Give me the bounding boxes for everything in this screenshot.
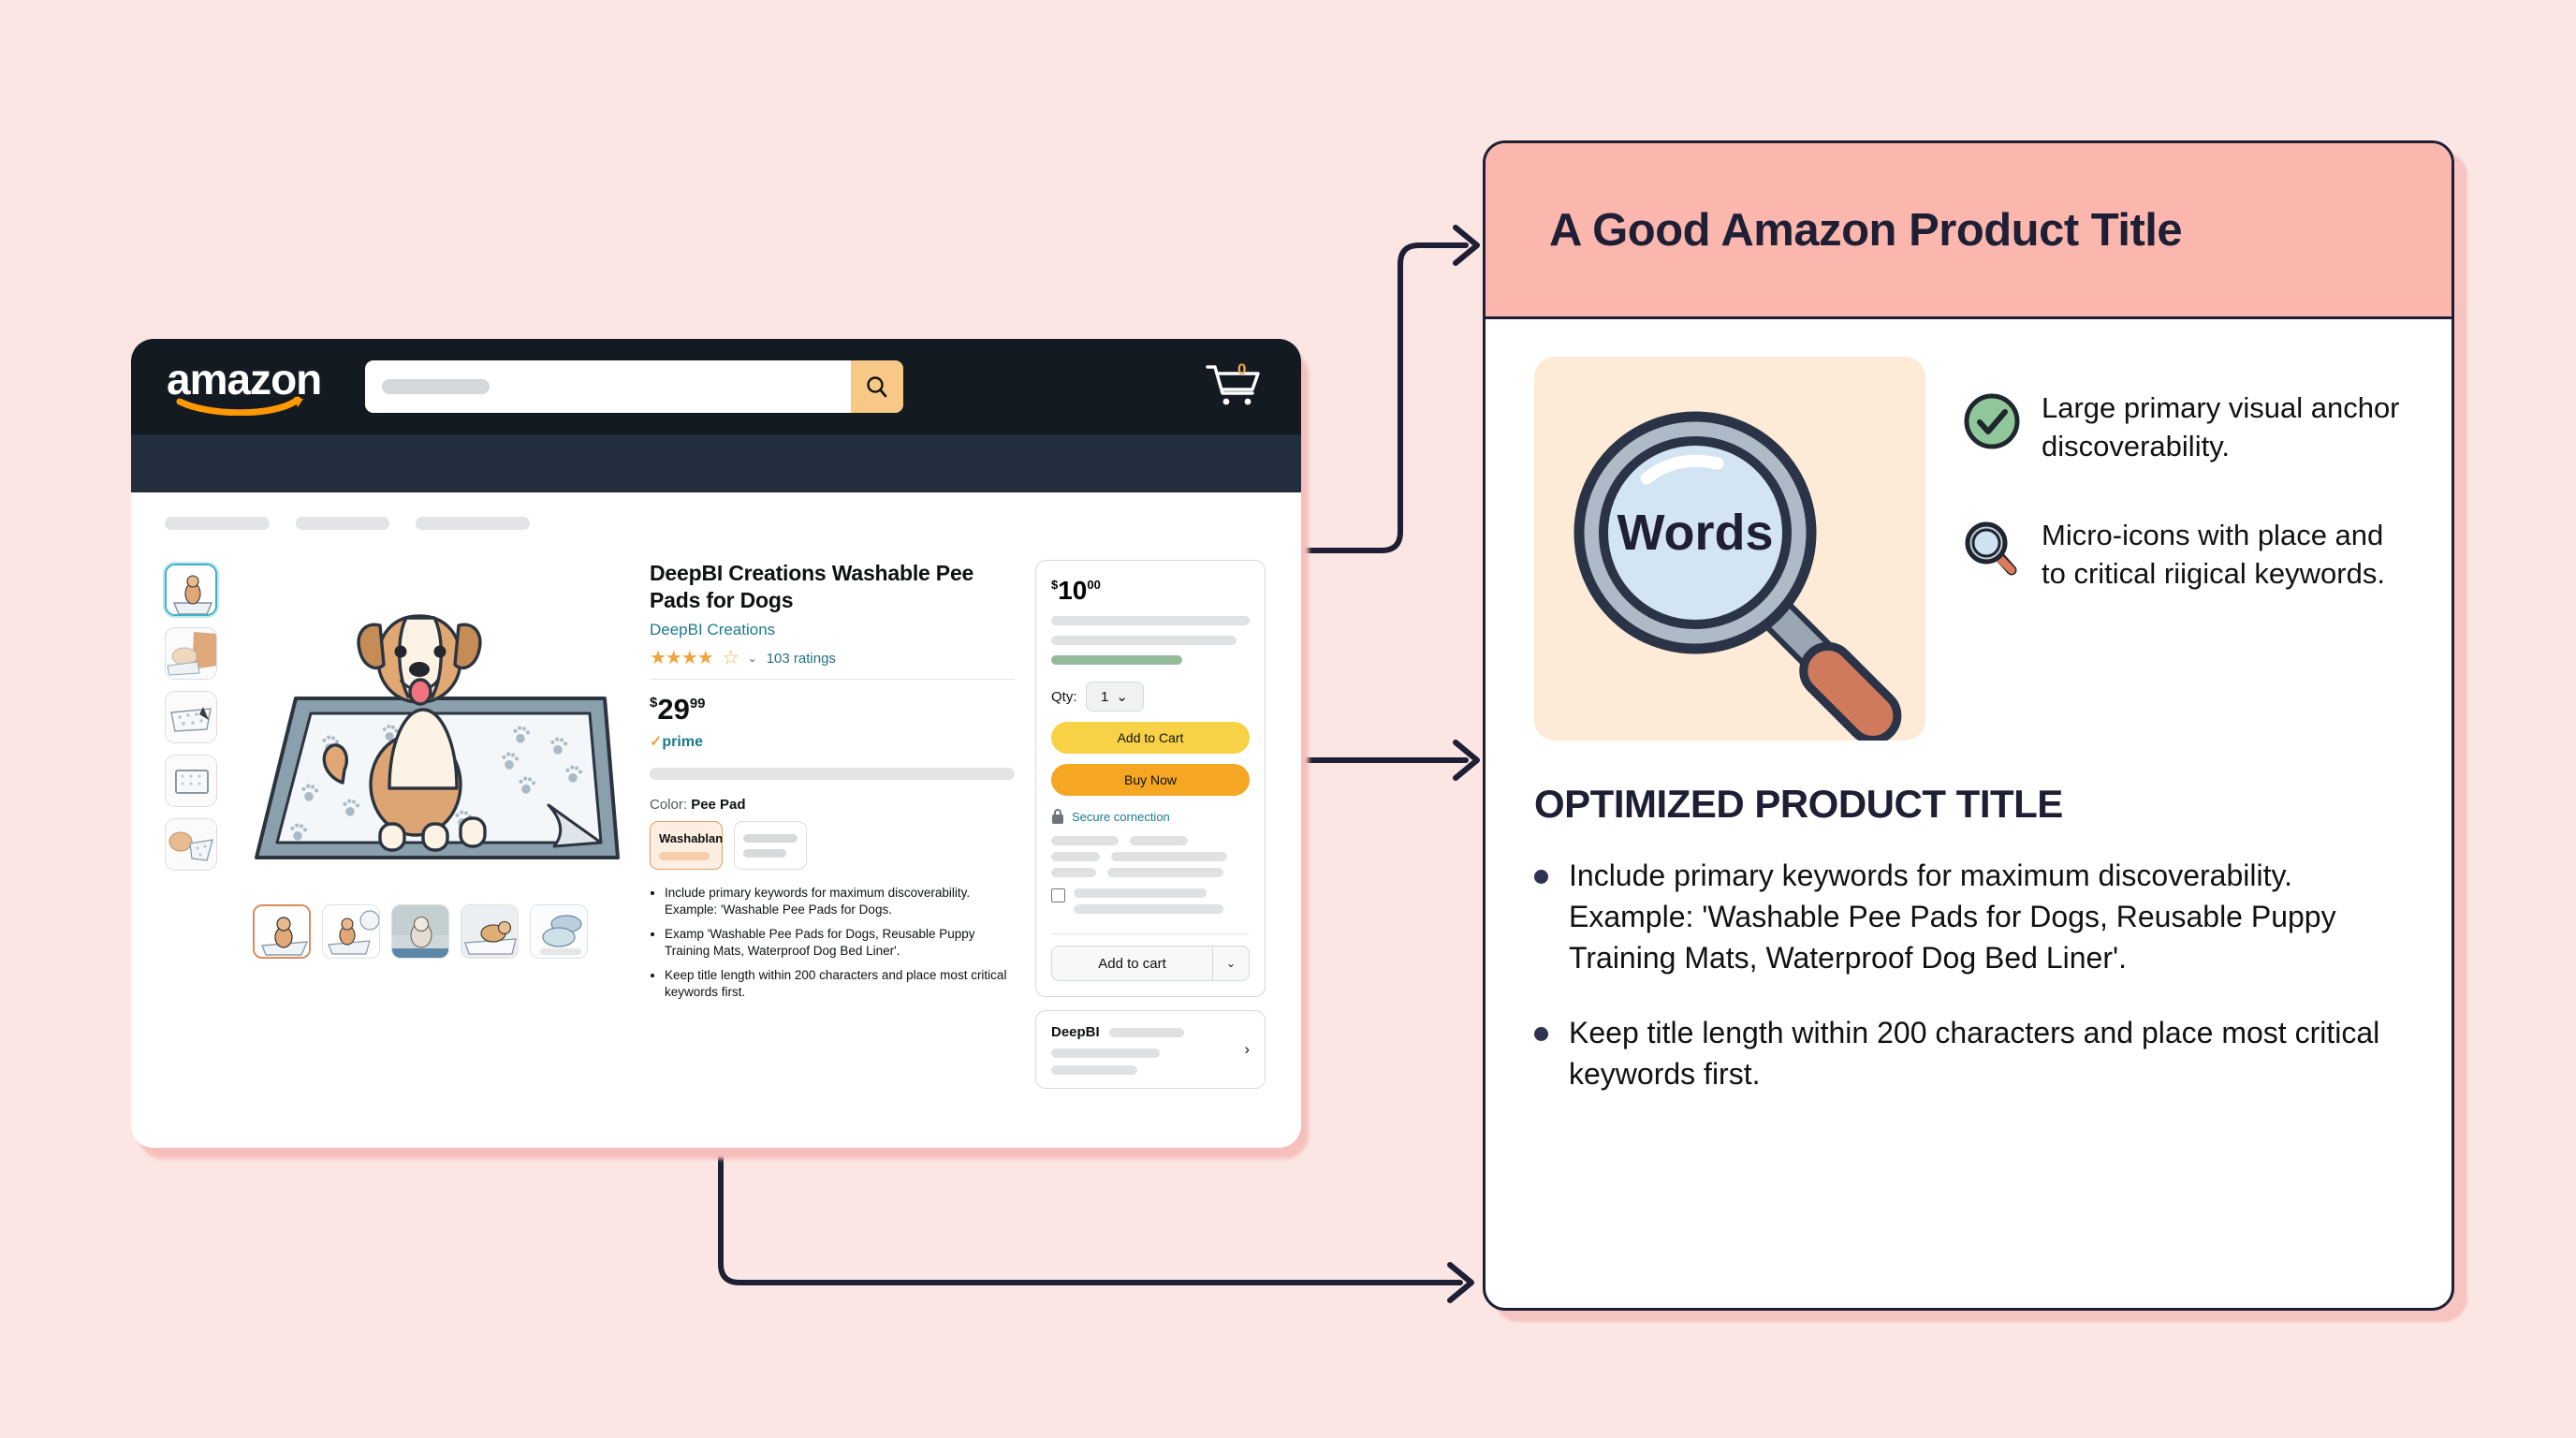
explainer-card: A Good Amazon Product Title rds	[1483, 140, 2454, 1311]
breadcrumb-item[interactable]	[416, 517, 530, 530]
swatch-bar	[743, 849, 786, 858]
breadcrumb-item[interactable]	[165, 517, 270, 530]
secure-connection-row: Secure cornection	[1051, 809, 1250, 825]
meta-row	[1051, 836, 1250, 845]
prime-label: prime	[662, 734, 703, 750]
checkbox-label-lines	[1074, 888, 1250, 920]
thumbnail-dog-on-pad[interactable]	[165, 564, 217, 616]
dog-with-fabric-swatch-icon	[323, 905, 380, 959]
pad-flat-thumb-icon	[166, 756, 217, 807]
color-swatches: Washablan	[650, 821, 1015, 870]
breadcrumb	[165, 517, 1267, 530]
feature-row: rds Words	[1534, 357, 2403, 741]
lock-icon	[1051, 809, 1064, 825]
buy-box: $1000 Qty: 1 ⌄ Add to Cart	[1035, 560, 1266, 997]
divider	[650, 679, 1015, 680]
list-item: Include primary keywords for maximum dis…	[1534, 855, 2403, 978]
lens-word-text: Words	[1617, 505, 1773, 561]
feature-point: Large primary visual anchor discoverabil…	[1963, 389, 2403, 465]
swatch-secondary[interactable]	[734, 821, 807, 870]
buy-now-button[interactable]: Buy Now	[1051, 764, 1250, 796]
amazon-product-page-mock: amazon	[131, 339, 1301, 1148]
list-item-text: Keep title length within 200 characters …	[1569, 1012, 2403, 1094]
feature-point-text: Large primary visual anchor discoverabil…	[2042, 389, 2403, 465]
list-item: Keep title length within 200 characters …	[665, 967, 1015, 1000]
star-rating-icon: ★★★★	[650, 649, 713, 668]
dog-sitting-on-pad-icon	[255, 906, 311, 959]
cart-count-badge: 0	[1237, 361, 1246, 377]
thumbnail-pad-flat[interactable]	[165, 755, 217, 807]
amazon-smile-icon	[176, 395, 307, 416]
meta-value	[1111, 852, 1227, 861]
gallery-card-room[interactable]	[461, 904, 519, 959]
folded-pads-icon	[531, 905, 588, 959]
placeholder-bar	[1074, 888, 1207, 898]
infographic-canvas: amazon	[0, 0, 2576, 1438]
swatch-label: Washablan	[659, 831, 713, 845]
prime-check-icon: ✓	[650, 734, 662, 750]
product-brand-link[interactable]: DeepBI Creations	[650, 621, 1015, 639]
seller-name-row: DeepBI	[1051, 1024, 1235, 1040]
quantity-label: Qty:	[1051, 689, 1077, 705]
breadcrumb-item[interactable]	[296, 517, 389, 530]
meta-value	[1130, 836, 1188, 845]
placeholder-bar	[1051, 1049, 1160, 1058]
checkbox[interactable]	[1051, 888, 1065, 902]
chevron-down-icon[interactable]: ⌄	[1213, 957, 1249, 970]
rating-row[interactable]: ★★★★ ☆ ⌄ 103 ratings	[650, 649, 1015, 668]
list-item: Keep title length within 200 characters …	[1534, 1012, 2403, 1094]
search-input[interactable]	[365, 360, 851, 413]
feature-points: Large primary visual anchor discoverabil…	[1963, 357, 2403, 741]
prime-badge: ✓prime	[650, 732, 1015, 751]
magnifying-glass-over-words-icon: rds Words	[1534, 357, 1925, 741]
color-label-text: Color:	[650, 797, 687, 813]
swatch-washablan[interactable]: Washablan	[650, 821, 723, 870]
list-item: Examp 'Washable Pee Pads for Dogs, Reusa…	[665, 926, 1015, 959]
feature-point-text: Micro-icons with place and to critical r…	[2042, 516, 2403, 593]
gift-option-row[interactable]	[1051, 888, 1250, 920]
list-item-text: Include primary keywords for maximum dis…	[1569, 855, 2403, 978]
bullet-dot-icon	[1534, 1027, 1548, 1041]
placeholder-bar	[1109, 1028, 1184, 1037]
buybox-meta-grid	[1051, 836, 1250, 877]
color-label: Color: Pee Pad	[650, 797, 1015, 813]
search-icon	[865, 374, 889, 399]
buybox-price: $1000	[1051, 576, 1250, 606]
product-detail-layout: DeepBI Creations Washable Pee Pads for D…	[165, 560, 1267, 1089]
price-whole: 29	[657, 693, 689, 726]
placeholder-bar	[650, 768, 1015, 780]
chevron-down-icon: ⌄	[1116, 688, 1128, 705]
magnifier-illustration: rds Words	[1534, 357, 1925, 741]
search-placeholder-bar	[382, 379, 490, 394]
dog-closeup-thumb-icon	[166, 628, 217, 680]
feature-point: Micro-icons with place and to critical r…	[1963, 516, 2403, 593]
seller-info: DeepBI	[1051, 1024, 1235, 1075]
divider	[1051, 933, 1250, 934]
quantity-stepper[interactable]: 1 ⌄	[1086, 682, 1144, 712]
pad-peel-thumb-icon	[166, 692, 217, 743]
thumbnail-rail	[165, 560, 228, 1089]
quantity-value: 1	[1101, 689, 1108, 705]
amazon-sub-nav	[131, 434, 1301, 492]
thumbnail-dog-closeup[interactable]	[165, 627, 217, 680]
search-button[interactable]	[851, 360, 903, 413]
page-title: A Good Amazon Product Title	[1549, 204, 2182, 257]
section-title: OPTIMIZED PRODUCT TITLE	[1534, 782, 2403, 827]
chevron-right-icon[interactable]: ›	[1244, 1040, 1250, 1059]
add-to-cart-button[interactable]: Add to Cart	[1051, 722, 1250, 754]
gallery-card-fabric-swatch[interactable]	[322, 904, 380, 959]
meta-row	[1051, 852, 1250, 861]
seller-card[interactable]: DeepBI ›	[1035, 1010, 1266, 1089]
dog-on-pad-thumb-icon	[167, 565, 217, 616]
quantity-row: Qty: 1 ⌄	[1051, 682, 1250, 712]
product-gallery	[228, 560, 633, 1089]
chevron-down-icon[interactable]: ⌄	[748, 652, 757, 665]
product-bullet-list: Include primary keywords for maximum dis…	[650, 885, 1015, 1000]
cart-icon	[1202, 358, 1266, 412]
thumbnail-pad-peel[interactable]	[165, 691, 217, 743]
add-to-cart-split-label: Add to cart	[1052, 956, 1212, 972]
placeholder-bar	[1074, 904, 1223, 914]
swatch-bar	[659, 852, 710, 860]
product-title: DeepBI Creations Washable Pee Pads for D…	[650, 560, 1015, 614]
buybox-column: $1000 Qty: 1 ⌄ Add to Cart	[1035, 560, 1267, 1089]
ratings-count-link[interactable]: 103 ratings	[767, 651, 836, 667]
add-to-cart-split-button[interactable]: Add to cart ⌄	[1051, 946, 1250, 981]
buybox-price-fraction: 00	[1087, 578, 1100, 592]
buybox-price-whole: 10	[1058, 576, 1087, 605]
secure-connection-label: Secure cornection	[1072, 810, 1170, 824]
explainer-card-body: rds Words	[1486, 319, 2452, 1308]
in-stock-bar	[1051, 655, 1182, 665]
placeholder-bar	[1051, 616, 1250, 625]
amazon-top-nav: amazon	[131, 339, 1301, 434]
explainer-card-header: A Good Amazon Product Title	[1486, 143, 2452, 319]
product-price: $2999	[650, 693, 1015, 726]
seller-name: DeepBI	[1051, 1024, 1100, 1040]
price-fraction: 99	[690, 696, 706, 712]
thumbnail-hand-pad[interactable]	[165, 818, 217, 871]
hand-pad-thumb-icon	[166, 819, 217, 871]
dog-on-mat-room-icon	[461, 905, 519, 959]
explainer-bullet-list: Include primary keywords for maximum dis…	[1534, 855, 2403, 1094]
green-check-icon	[1963, 392, 2021, 450]
color-value: Pee Pad	[691, 797, 745, 813]
meta-value	[1107, 868, 1223, 877]
hero-product-image[interactable]	[240, 560, 633, 878]
meta-key	[1051, 852, 1100, 861]
product-info-column: DeepBI Creations Washable Pee Pads for D…	[633, 560, 1035, 1089]
gallery-card-dog-sitting[interactable]	[253, 904, 311, 959]
bullet-dot-icon	[1534, 870, 1548, 884]
dog-on-pee-pad-illustration	[240, 560, 633, 878]
meta-key	[1051, 868, 1096, 877]
amazon-page-body: DeepBI Creations Washable Pee Pads for D…	[131, 492, 1301, 1089]
list-item: Include primary keywords for maximum dis…	[665, 885, 1015, 917]
amazon-logo[interactable]: amazon	[163, 358, 316, 416]
meta-row	[1051, 868, 1250, 877]
gallery-card-folded-pads[interactable]	[530, 904, 588, 959]
swatch-bar	[743, 834, 798, 843]
placeholder-bar	[1051, 1065, 1137, 1075]
meta-key	[1051, 836, 1119, 845]
placeholder-bar	[1051, 636, 1237, 645]
gallery-card-lifestyle[interactable]	[391, 904, 449, 959]
cart-button[interactable]: 0	[1202, 358, 1269, 416]
half-star-icon: ☆	[723, 649, 739, 668]
gallery-thumbnail-strip	[240, 904, 633, 959]
magnifier-icon	[1963, 520, 2021, 578]
search-bar[interactable]	[365, 360, 903, 413]
dog-lifestyle-photo-icon	[392, 905, 449, 959]
